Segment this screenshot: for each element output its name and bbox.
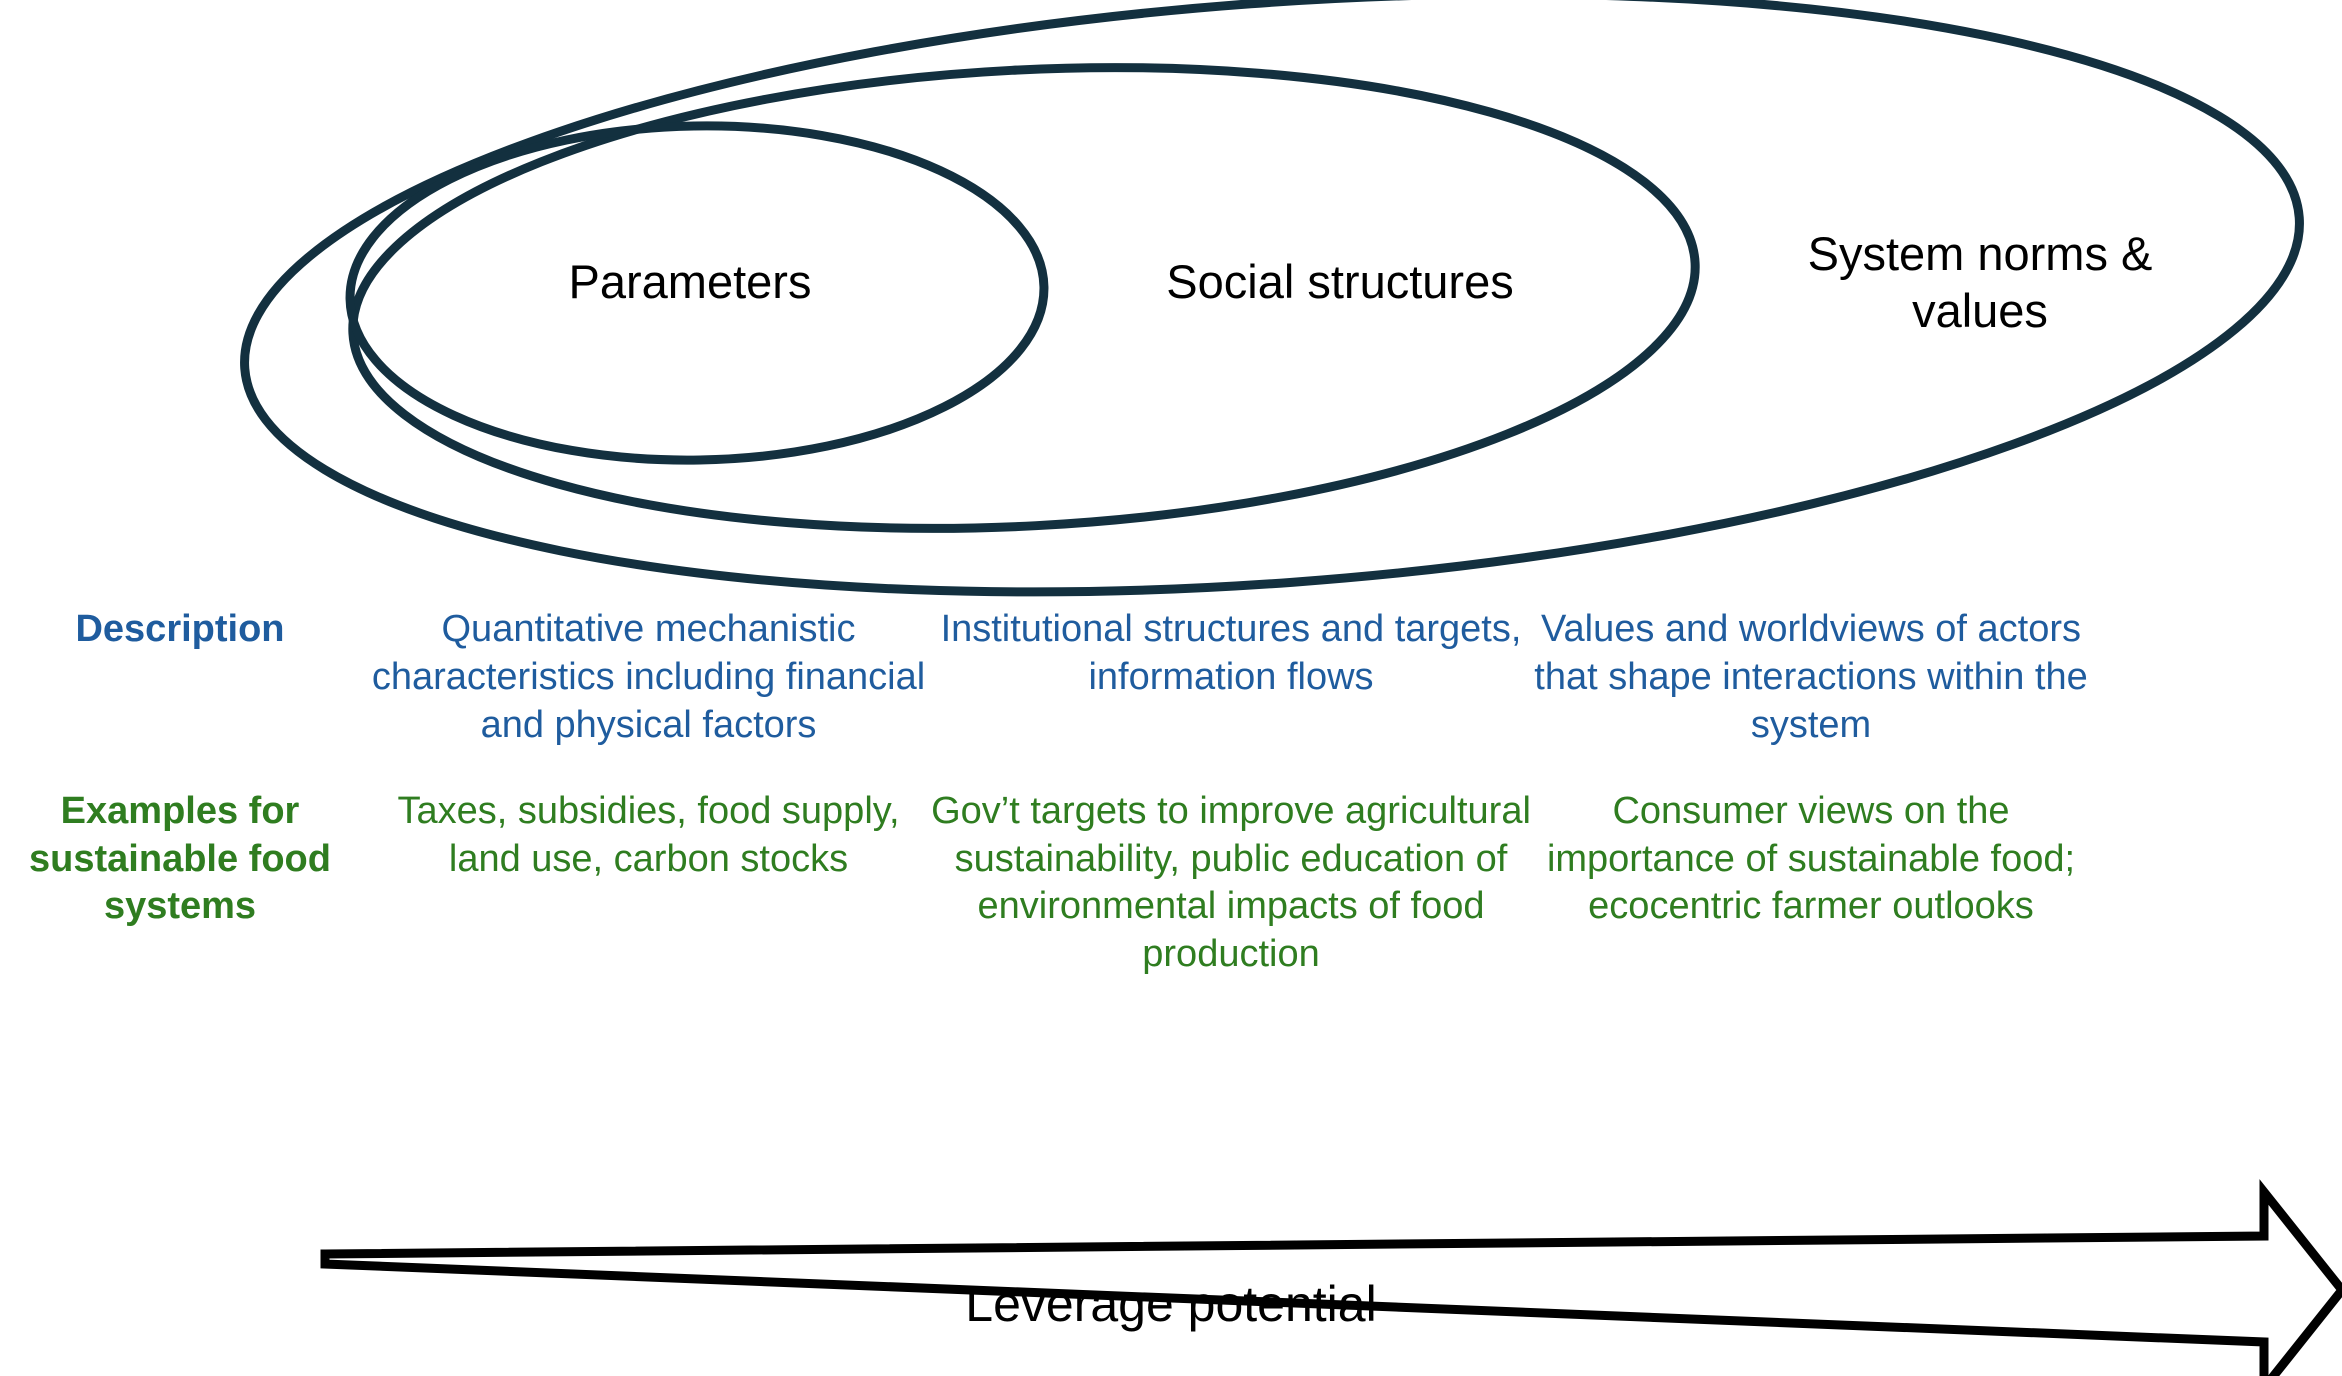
cell-examples-parameters: Taxes, subsidies, food supply, land use,… <box>366 788 931 884</box>
leverage-potential-label: Leverage potential <box>0 1275 2342 1333</box>
row-header-description: Description <box>0 606 366 654</box>
diagram-canvas: Parameters Social structures System norm… <box>0 0 2342 1376</box>
leverage-potential-arrow-icon <box>0 1150 2342 1376</box>
ellipse-label-parameters: Parameters <box>360 253 1020 310</box>
ellipse-label-social-structures: Social structures <box>1040 253 1640 310</box>
cell-description-social-structures: Institutional structures and targets, in… <box>931 606 1531 702</box>
row-header-examples: Examples for sustainable food systems <box>0 788 366 932</box>
attribute-matrix: Description Quantitative mechanistic cha… <box>0 606 2342 979</box>
ellipse-label-system-norms-values: System norms & values <box>1700 225 2260 340</box>
cell-examples-social-structures: Gov’t targets to improve agricultural su… <box>931 788 1531 980</box>
table-row: Description Quantitative mechanistic cha… <box>0 606 2342 750</box>
cell-description-system-norms-values: Values and worldviews of actors that sha… <box>1531 606 2091 750</box>
cell-examples-system-norms-values: Consumer views on the importance of sust… <box>1531 788 2091 932</box>
table-row: Examples for sustainable food systems Ta… <box>0 788 2342 980</box>
cell-description-parameters: Quantitative mechanistic characteristics… <box>366 606 931 750</box>
